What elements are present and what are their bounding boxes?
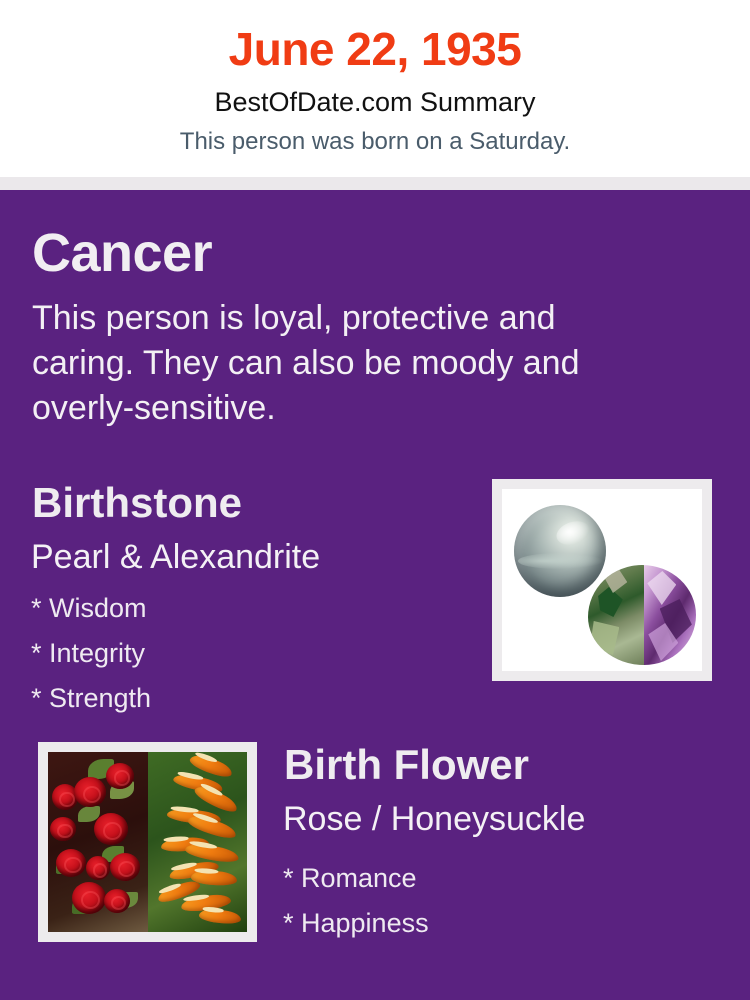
zodiac-sign-title: Cancer <box>32 222 212 284</box>
birth-flower-image <box>38 742 257 942</box>
birth-flower-image-canvas <box>48 752 247 932</box>
alexandrite-gem-icon <box>588 565 696 665</box>
birthstone-trait-list: * Wisdom * Integrity * Strength <box>31 586 451 721</box>
birth-day-of-week-text: This person was born on a Saturday. <box>0 127 750 157</box>
birthstone-image-canvas <box>502 489 702 671</box>
header-divider <box>0 177 750 190</box>
list-item: * Integrity <box>31 631 451 676</box>
birth-flower-trait-list: * Romance * Happiness <box>283 856 703 946</box>
bestofdate-summary-card: June 22, 1935 BestOfDate.com Summary Thi… <box>0 0 750 1000</box>
list-item: * Strength <box>31 676 451 721</box>
list-item: * Happiness <box>283 901 703 946</box>
header: June 22, 1935 BestOfDate.com Summary Thi… <box>0 0 750 177</box>
birthstone-heading: Birthstone <box>32 478 242 528</box>
site-summary-label: BestOfDate.com Summary <box>0 86 750 118</box>
birth-flower-heading: Birth Flower <box>284 740 529 790</box>
list-item: * Romance <box>283 856 703 901</box>
roses-photo-half <box>48 752 148 932</box>
birthstone-image <box>492 479 712 681</box>
birthstone-value: Pearl & Alexandrite <box>31 536 320 578</box>
honeysuckle-photo-half <box>148 752 248 932</box>
page-title-date: June 22, 1935 <box>0 22 750 76</box>
birth-flower-value: Rose / Honeysuckle <box>283 798 585 840</box>
list-item: * Wisdom <box>31 586 451 631</box>
zodiac-description-text: This person is loyal, protective and car… <box>32 296 662 431</box>
